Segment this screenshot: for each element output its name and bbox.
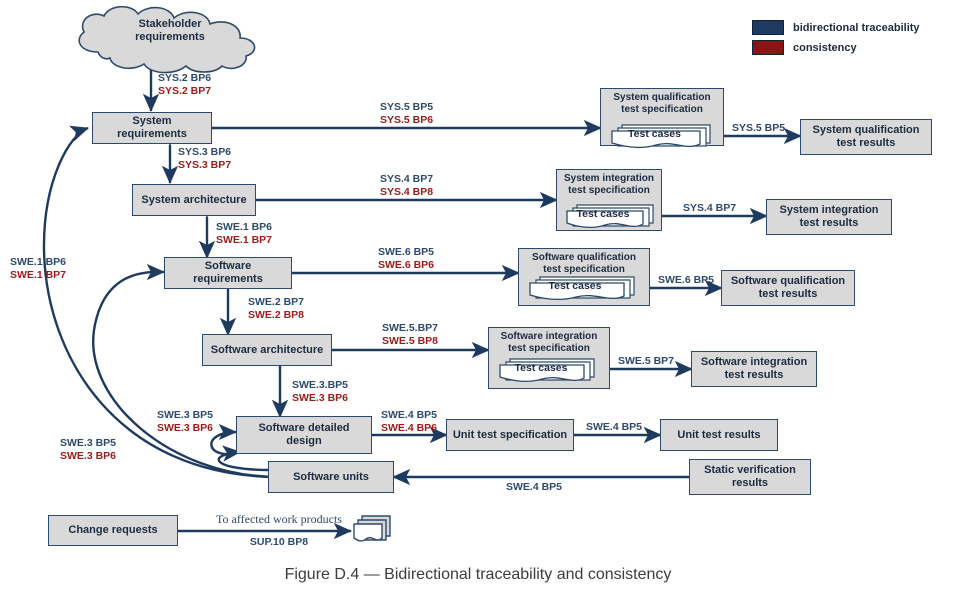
legend-label-consistency: consistency (793, 42, 857, 54)
node-change-requests[interactable]: Change requests (48, 515, 178, 546)
node-software-units[interactable]: Software units (268, 461, 394, 493)
edge-label-unit-test-results: SWE.4 BP5 (586, 421, 642, 434)
edge-label-sdd-left-near: SWE.3 BP5 SWE.3 BP6 (157, 409, 213, 436)
edge-label-swqual-results: SWE.6 BP5 (658, 274, 714, 287)
legend: bidirectional traceability consistency (752, 20, 920, 60)
edge-label-sysreq-sysarch: SYS.3 BP6 SYS.3 BP7 (178, 146, 231, 173)
edge-label-swint-results: SWE.5 BP7 (618, 355, 674, 368)
edge-label-sdd-unit-test-spec: SWE.4 BP5 SWE.4 BP6 (381, 409, 437, 436)
test-cases-label: Test cases (520, 280, 630, 292)
node-software-requirements[interactable]: Software requirements (164, 257, 292, 289)
legend-item-consistency: consistency (752, 40, 920, 55)
stakeholder-requirements-label: Stakeholder requirements (80, 18, 260, 45)
edge-label-sdd-left-far: SWE.3 BP5 SWE.3 BP6 (60, 437, 116, 464)
edge-label-swarch-swint-spec: SWE.5.BP7 SWE.5 BP8 (382, 322, 438, 349)
spec-title: System integration test specification (557, 173, 661, 197)
test-cases-label: Test cases (557, 208, 649, 220)
edge-label-swarch-sdd: SWE.3.BP5 SWE.3 BP6 (292, 379, 348, 406)
test-cases-label: Test cases (490, 362, 592, 374)
legend-swatch-consistency (752, 40, 784, 55)
figure-caption: Figure D.4 — Bidirectional traceability … (0, 566, 956, 584)
node-software-detailed-design[interactable]: Software detailed design (236, 416, 372, 454)
node-system-integration-test-results[interactable]: System integration test results (766, 199, 892, 235)
node-software-integration-test-results[interactable]: Software integration test results (691, 351, 817, 387)
node-unit-test-specification[interactable]: Unit test specification (446, 419, 574, 451)
node-system-requirements[interactable]: System requirements (92, 112, 212, 144)
node-system-architecture[interactable]: System architecture (132, 184, 256, 216)
edge-label-sysarch-sysint-spec: SYS.4 BP7 SYS.4 BP8 (380, 173, 433, 200)
edge-label-swreq-swarch: SWE.2 BP7 SWE.2 BP8 (248, 296, 304, 323)
test-cases-label: Test cases (602, 128, 707, 140)
legend-label-traceability: bidirectional traceability (793, 22, 920, 34)
edge-label-sysint-results: SYS.4 BP7 (683, 202, 736, 215)
edge-label-swreq-left-loop: SWE.1 BP6 SWE.1 BP7 (10, 256, 66, 283)
node-static-verification-results[interactable]: Static verification results (689, 459, 811, 495)
edge-label-swreq-swqual-spec: SWE.6 BP5 SWE.6 BP6 (378, 246, 434, 273)
edge-label-sysreq-sysqual-spec: SYS.5 BP5 SYS.5 BP6 (380, 101, 433, 128)
node-software-architecture[interactable]: Software architecture (202, 334, 332, 366)
edge-label-stakeholder-system: SYS.2 BP6 SYS.2 BP7 (158, 72, 211, 99)
edge-label-units-static-verification: SWE.4 BP5 (506, 481, 562, 494)
edge-label-sysarch-swreq: SWE.1 BP6 SWE.1 BP7 (216, 221, 272, 248)
edge-label-change-requests-line1: To affected work products (194, 512, 364, 527)
figure-canvas: Stakeholder requirements System requirem… (0, 0, 956, 604)
edge-label-sysqual-results: SYS.5 BP5 (732, 122, 785, 135)
node-system-qualification-test-results[interactable]: System qualification test results (800, 119, 932, 155)
legend-swatch-traceability (752, 20, 784, 35)
edge-label-change-requests-line2: SUP.10 BP8 (194, 536, 364, 549)
spec-title: System qualification test specification (601, 92, 723, 116)
legend-item-traceability: bidirectional traceability (752, 20, 920, 35)
spec-title: Software integration test specification (489, 331, 609, 355)
spec-title: Software qualification test specificatio… (519, 252, 649, 276)
node-unit-test-results[interactable]: Unit test results (660, 419, 778, 451)
node-software-qualification-test-results[interactable]: Software qualification test results (721, 270, 855, 306)
